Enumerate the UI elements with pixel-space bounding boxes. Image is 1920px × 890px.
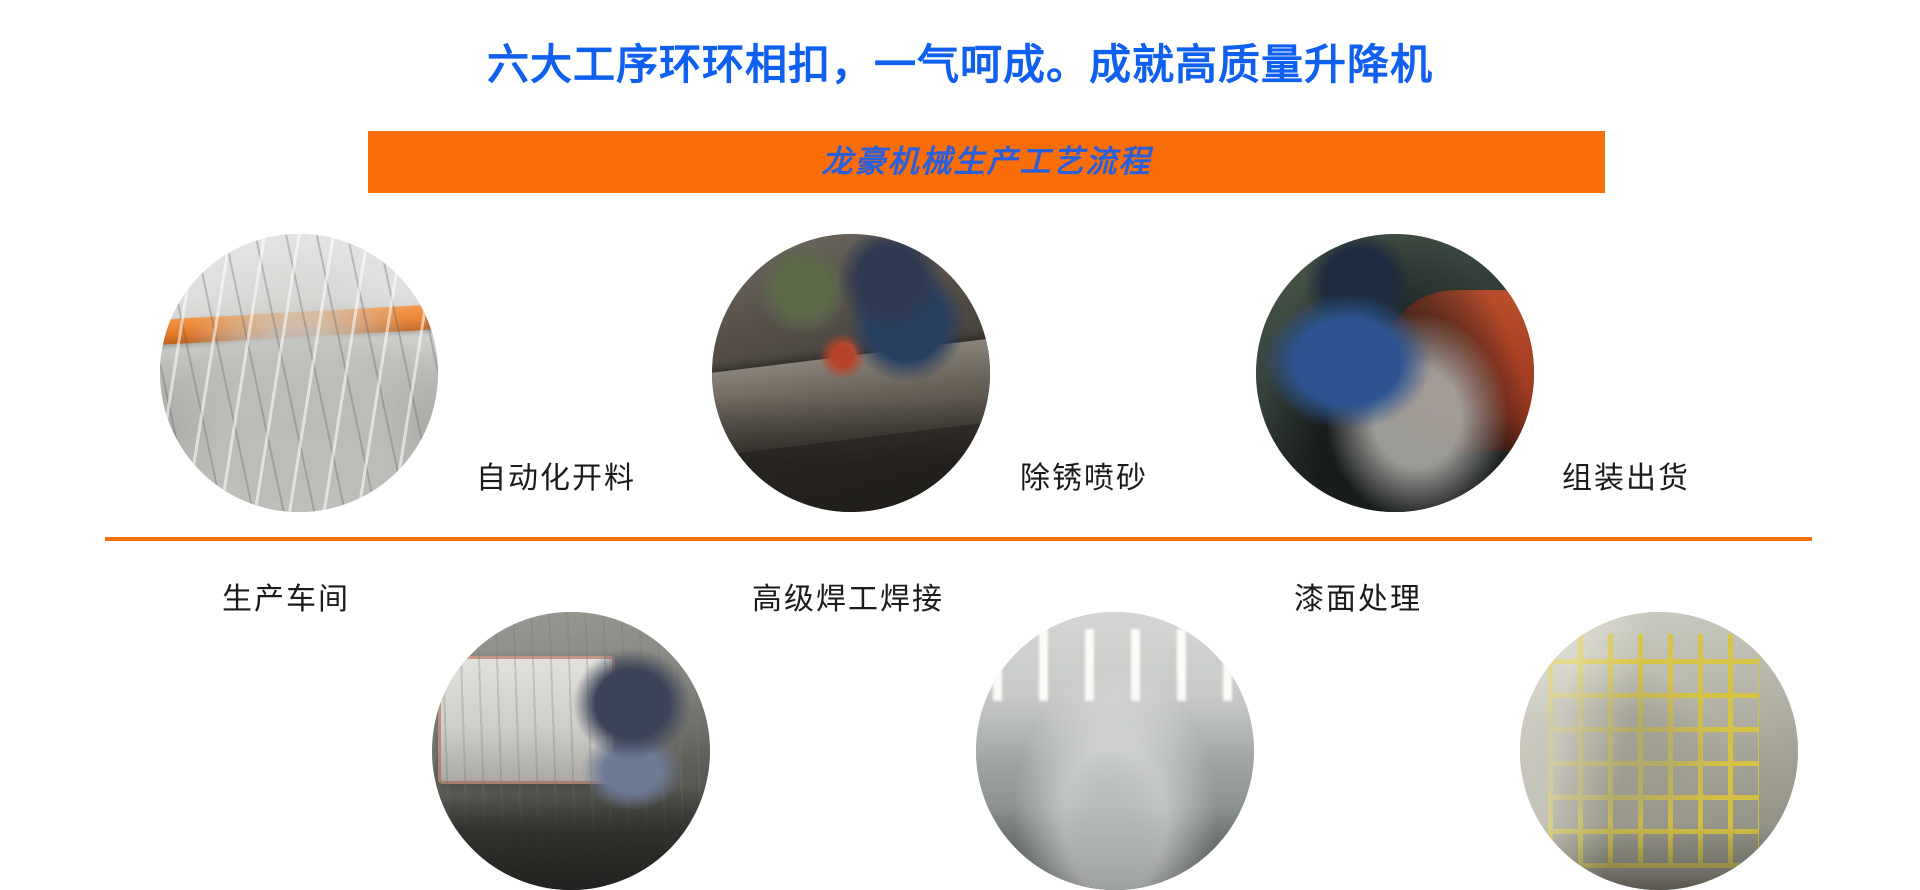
stage-label-workshop: 生产车间 bbox=[222, 585, 350, 615]
page-headline: 六大工序环环相扣，一气呵成。成就高质量升降机 bbox=[0, 44, 1920, 86]
welding-photo bbox=[712, 234, 990, 512]
sandblasting-photo bbox=[1256, 234, 1534, 512]
paint-booth-photo bbox=[976, 612, 1254, 890]
cutting-scene bbox=[432, 612, 710, 890]
paint-booth-scene bbox=[976, 612, 1254, 890]
assembly-scene bbox=[1520, 612, 1798, 890]
sandblasting-scene bbox=[1256, 234, 1534, 512]
stage-label-welding: 高级焊工焊接 bbox=[752, 585, 944, 615]
banner-title: 龙豪机械生产工艺流程 bbox=[822, 146, 1152, 177]
stage-label-assembly: 组装出货 bbox=[1562, 464, 1690, 494]
cutting-photo bbox=[432, 612, 710, 890]
workshop-scene bbox=[160, 234, 438, 512]
workshop-photo bbox=[160, 234, 438, 512]
process-divider-line bbox=[105, 537, 1812, 541]
stage-label-cutting: 自动化开料 bbox=[476, 464, 636, 494]
welding-scene bbox=[712, 234, 990, 512]
assembly-photo bbox=[1520, 612, 1798, 890]
stage-label-paint: 漆面处理 bbox=[1294, 585, 1422, 615]
stage-label-sandblasting: 除锈喷砂 bbox=[1020, 464, 1148, 494]
section-banner: 龙豪机械生产工艺流程 bbox=[368, 131, 1605, 193]
